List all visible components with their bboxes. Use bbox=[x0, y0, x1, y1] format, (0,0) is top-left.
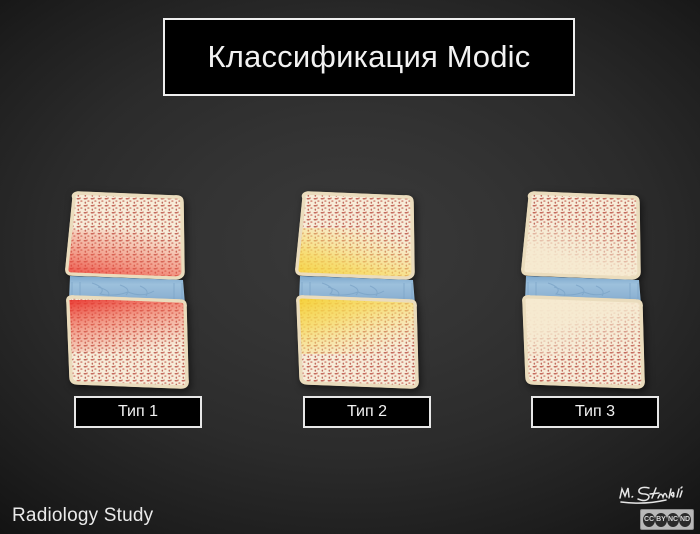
page-title: Классификация Modic bbox=[208, 39, 531, 75]
watermark-text: Radiology Study bbox=[12, 505, 153, 527]
type-label-2: Тип 2 bbox=[303, 396, 431, 428]
type-label-1: Тип 1 bbox=[74, 396, 202, 428]
title-box: Классификация Modic bbox=[163, 18, 575, 96]
creative-commons-badge[interactable]: CC BY NC ND bbox=[640, 509, 694, 530]
author-signature-icon bbox=[616, 482, 688, 506]
vertebra-illustration-type-3 bbox=[518, 190, 666, 398]
vertebra-illustration-type-2 bbox=[292, 190, 440, 398]
cc-nd-icon: ND bbox=[679, 513, 691, 527]
type-label-3-text: Тип 3 bbox=[575, 403, 615, 421]
type-label-2-text: Тип 2 bbox=[347, 403, 387, 421]
slide-canvas: Классификация Modic bbox=[0, 0, 700, 534]
type-label-3: Тип 3 bbox=[531, 396, 659, 428]
cc-nc-icon: NC bbox=[667, 513, 679, 527]
vertebra-figure-type-1 bbox=[62, 190, 210, 398]
vertebra-figure-type-3 bbox=[518, 190, 666, 398]
cc-by-icon: BY bbox=[655, 513, 667, 527]
cc-icon: CC bbox=[643, 513, 655, 527]
vertebra-illustration-type-1 bbox=[62, 190, 210, 398]
type-label-1-text: Тип 1 bbox=[118, 403, 158, 421]
vertebra-figure-type-2 bbox=[292, 190, 440, 398]
